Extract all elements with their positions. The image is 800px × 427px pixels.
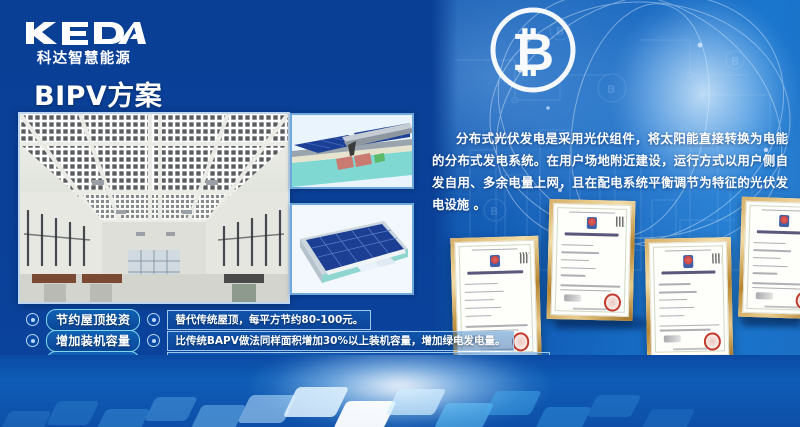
main-photo [18,112,290,304]
mounting-detail-diagram [290,113,414,189]
bullet-ring-icon [26,334,39,347]
benefit-label-2: 增加装机容量 [46,330,140,352]
keda-logo-icon [24,20,146,46]
brand-logo-chinese: 科达智慧能源 [24,47,144,68]
bullet-ring-icon [147,313,160,326]
atrium-photo-illustration [20,114,288,302]
bottom-tile-floor-decor [0,355,800,427]
benefit-desc-2: 比传统BAPV做法同样面积增加30%以上装机容量，增加绿电发电量。 [167,331,513,351]
bitcoin-glyph: ₿ [512,23,554,83]
array-layout-diagram [290,203,414,295]
benefit-desc-1: 替代传统屋顶，每平方节约80-100元。 [167,310,371,330]
poster-root: B B B B ₿ [0,0,800,427]
benefit-label-1: 节约屋顶投资 [46,309,140,331]
bitcoin-logo-icon: ₿ [478,2,588,98]
page-title: BIPV方案 [34,74,162,113]
certificate-4 [738,197,800,320]
bullet-ring-icon [147,334,160,347]
brand-logo: 科达智慧能源 [24,20,164,68]
certificate-3 [645,237,734,361]
bullet-ring-icon [26,313,39,326]
benefit-row-2: 增加装机容量 比传统BAPV做法同样面积增加30%以上装机容量，增加绿电发电量。 [26,330,446,351]
certificate-2 [547,199,636,321]
benefit-row-1: 节约屋顶投资 替代传统屋顶，每平方节约80-100元。 [26,309,446,330]
